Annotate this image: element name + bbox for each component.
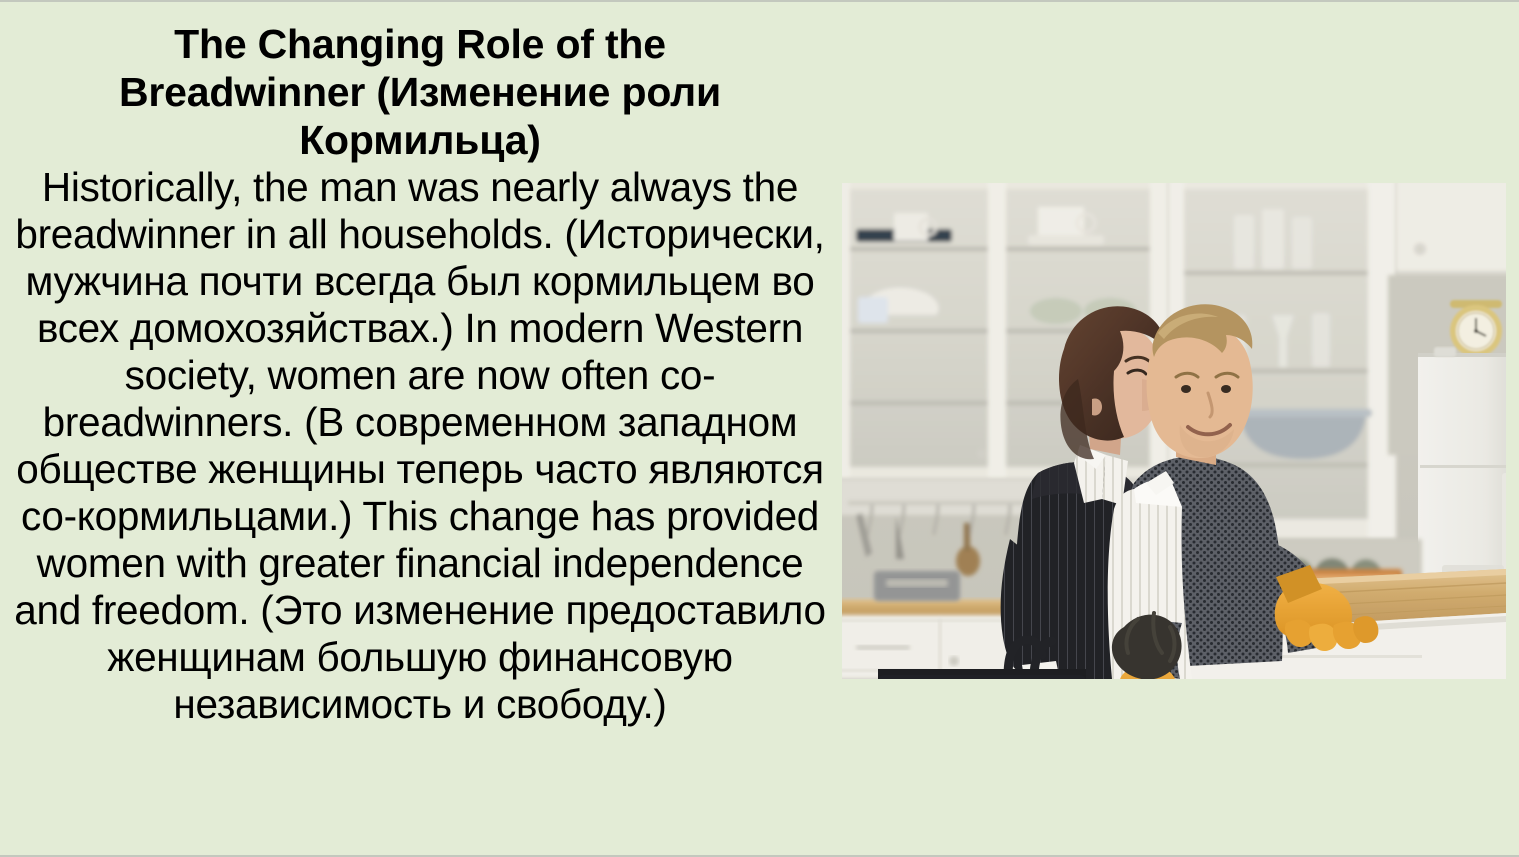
presentation-slide: The Changing Role of the Breadwinner (Из… (0, 0, 1519, 857)
kitchen-scene-illustration (842, 183, 1506, 679)
kitchen-couple-photo (842, 183, 1506, 679)
page-title: The Changing Role of the Breadwinner (Из… (6, 20, 834, 164)
slide-text-column: The Changing Role of the Breadwinner (Из… (6, 20, 834, 728)
slide-body-text: Historically, the man was nearly always … (6, 164, 834, 728)
